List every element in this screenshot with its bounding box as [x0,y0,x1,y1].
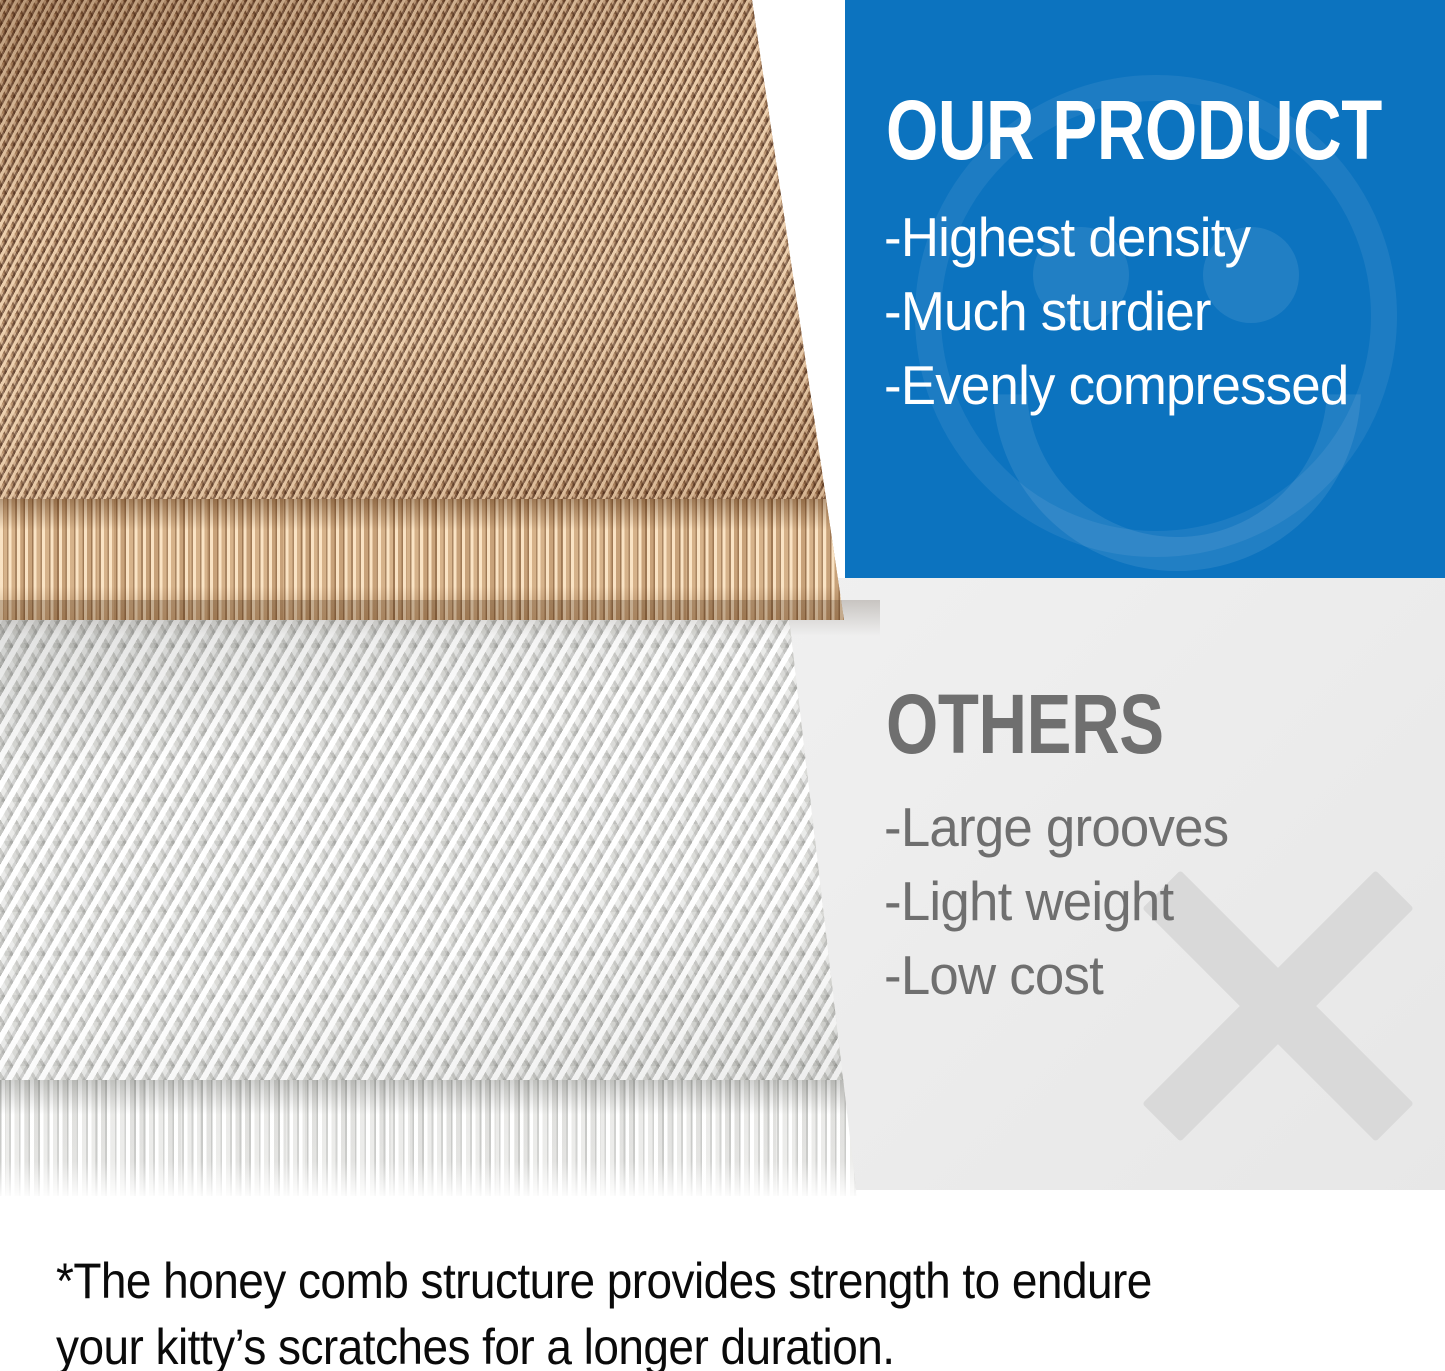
others-bullet-2: -Light weight [884,864,1228,938]
white-honeycomb-board-image [0,596,870,1196]
white-honeycomb-surface [0,596,870,1088]
our-product-bullet-1: -Highest density [884,200,1349,274]
footer-note-line-1: *The honey comb structure provides stren… [56,1248,1307,1314]
tan-board-edge [0,499,850,620]
tan-honeycomb-board-image [0,0,850,620]
footer-note: *The honey comb structure provides stren… [56,1248,1307,1371]
others-bullet-list: -Large grooves -Light weight -Low cost [884,790,1243,1012]
our-product-bullet-2: -Much sturdier [884,274,1349,348]
others-bullet-1: -Large grooves [884,790,1228,864]
infographic-canvas: OUR PRODUCT -Highest density -Much sturd… [0,0,1445,1371]
others-bullet-3: -Low cost [884,938,1228,1012]
our-product-bullet-3: -Evenly compressed [884,348,1349,422]
our-product-title: OUR PRODUCT [886,88,1382,172]
tan-honeycomb-surface [0,0,850,506]
our-product-bullet-list: -Highest density -Much sturdier -Evenly … [884,200,1368,422]
footer-note-line-2: your kitty’s scratches for a longer dura… [56,1314,1307,1371]
white-board-edge [0,1080,870,1196]
others-title: OTHERS [886,682,1164,766]
